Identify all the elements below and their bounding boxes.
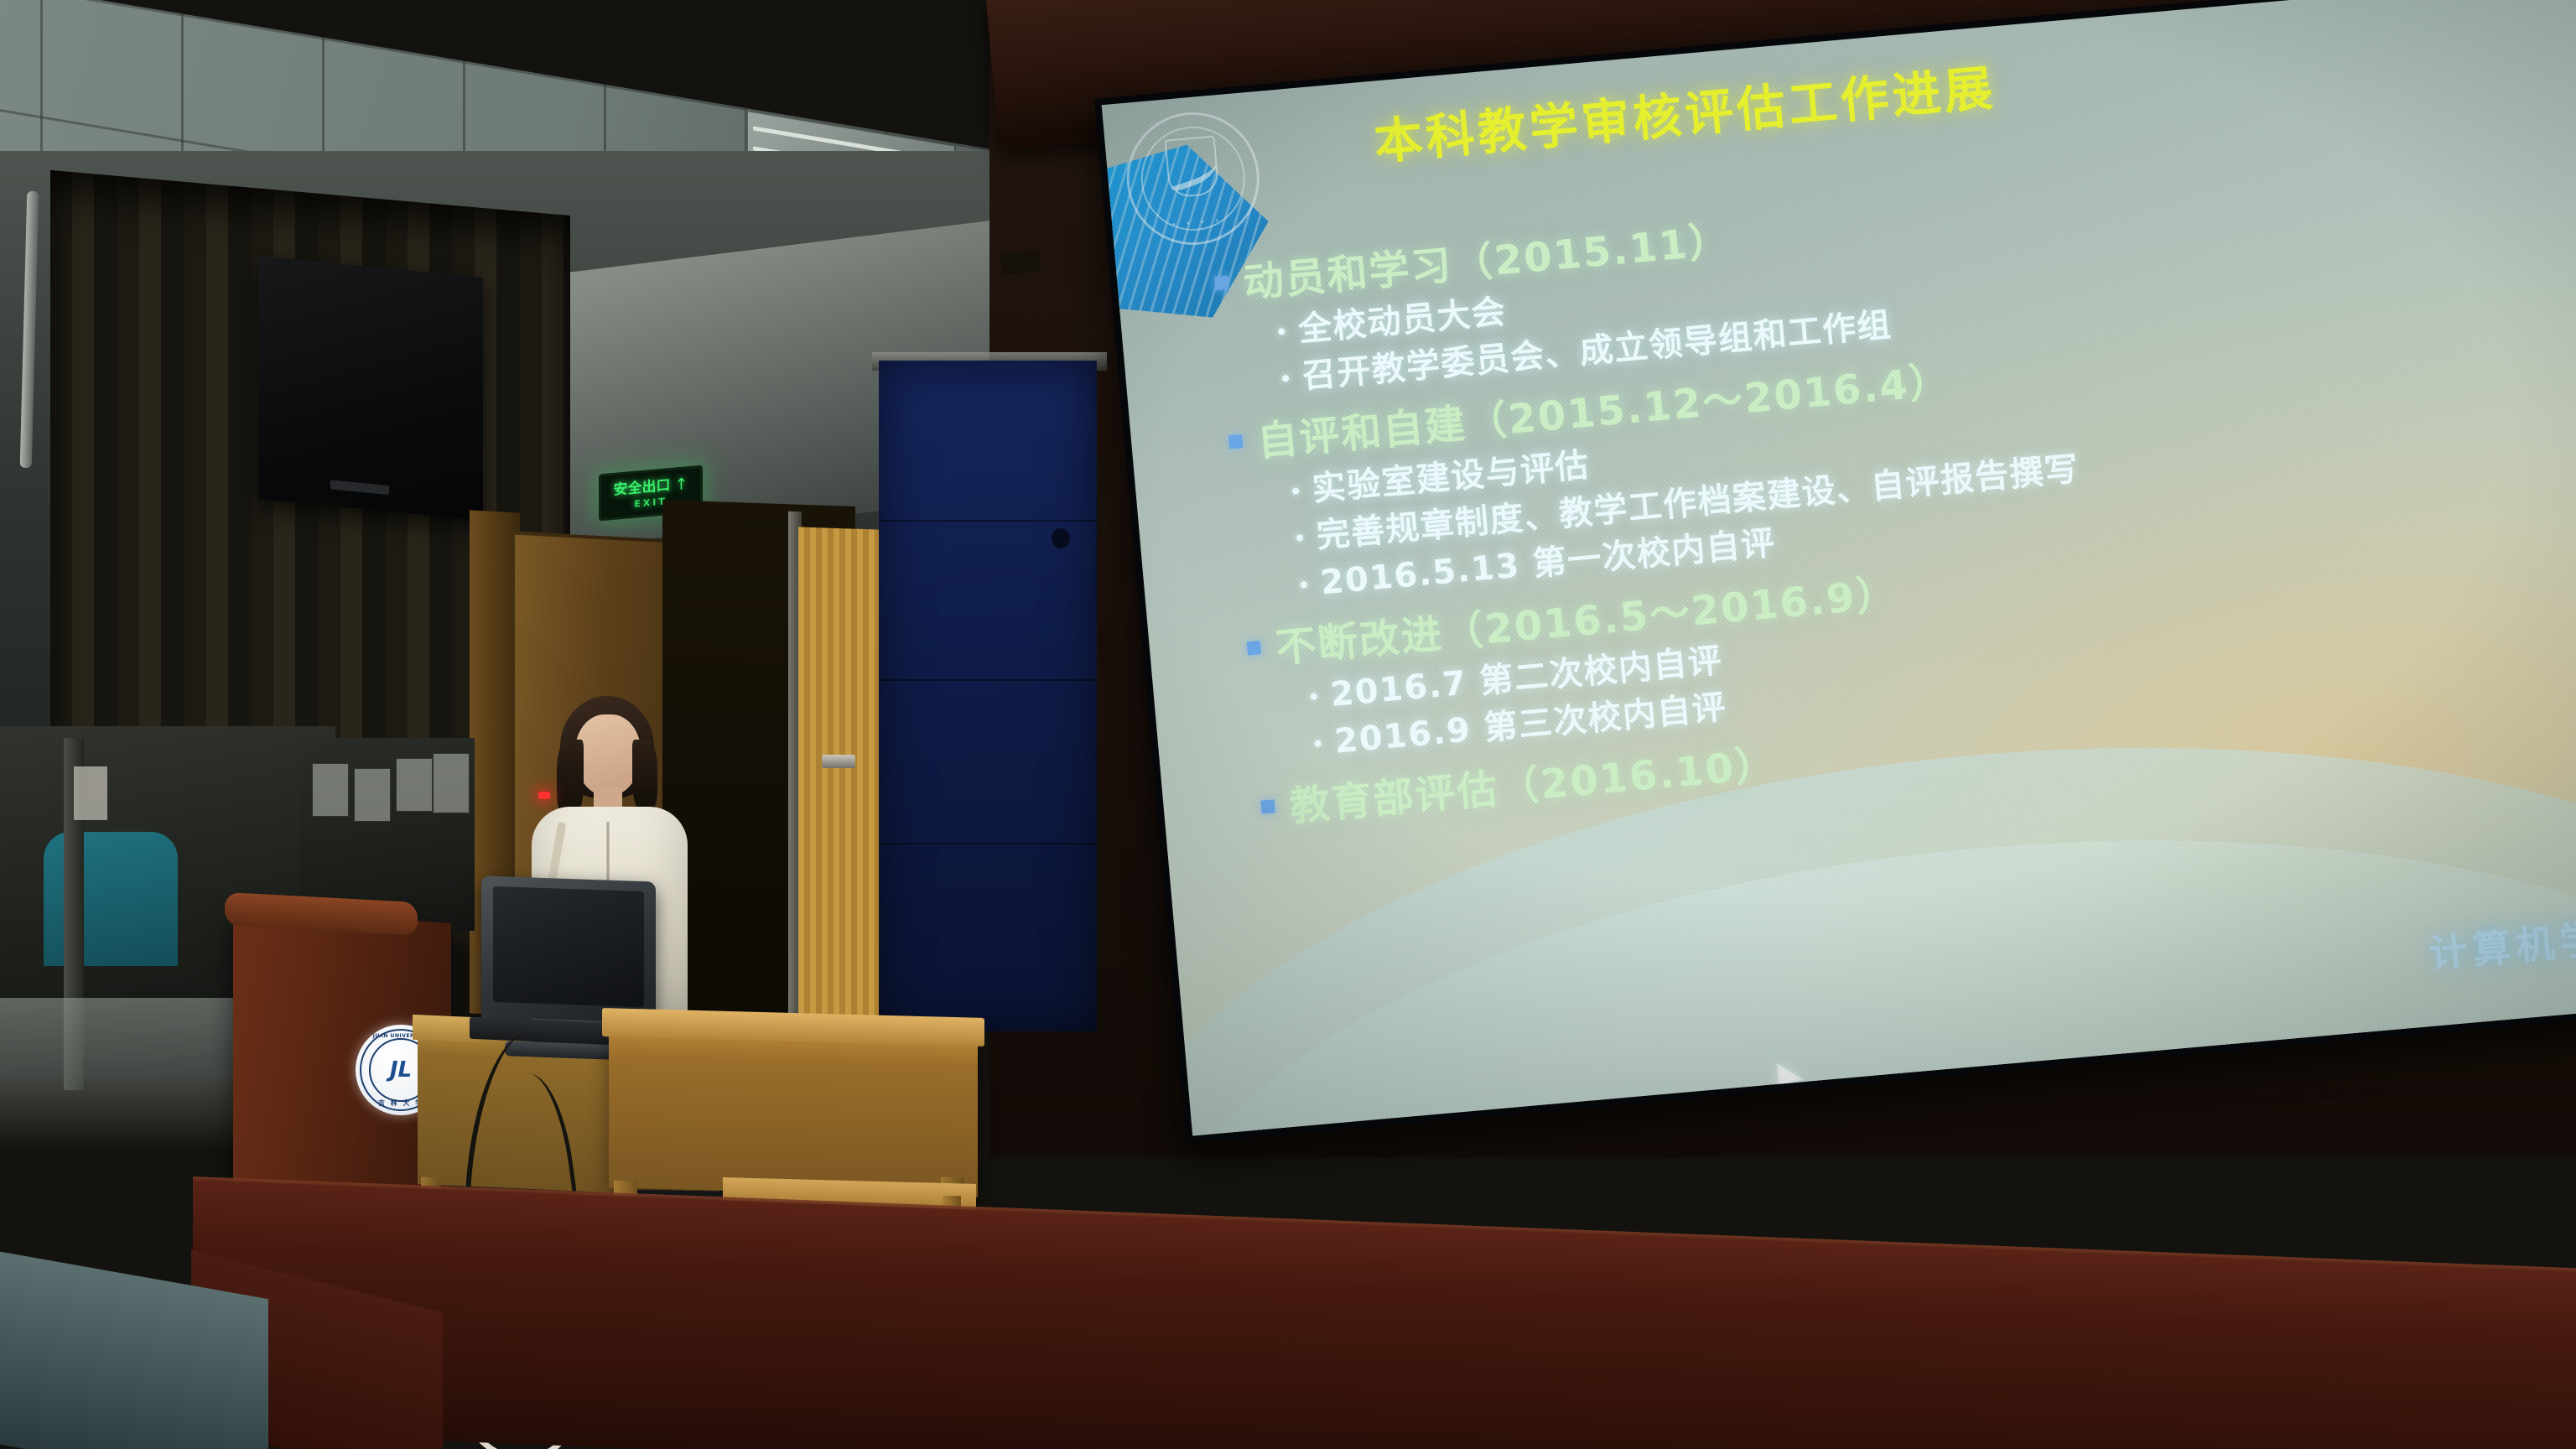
- projection-screen: • • • • 本科教学审核评估工作进展 动员和学习（2015.11） 全校动员…: [1094, 0, 2576, 1143]
- door-handle[interactable]: [822, 755, 855, 768]
- bullet-dot-icon: [1296, 534, 1304, 542]
- wall-speaker: [258, 256, 483, 521]
- panel-knob: [1052, 528, 1070, 548]
- bullet-dot-icon: [1282, 375, 1290, 382]
- presenter-face: [575, 714, 641, 797]
- lecture-hall-scene: 安全出口 ↑ EXIT: [0, 0, 2576, 1449]
- bullet-dot-icon: [1310, 693, 1317, 701]
- bullet-dot-icon: [1301, 581, 1308, 589]
- desk-right: [609, 1020, 978, 1197]
- wood-wall-panel: [798, 527, 879, 1049]
- notice-paper: [74, 766, 107, 820]
- bullet-square-icon: [1247, 641, 1261, 655]
- blue-acoustic-panel: [879, 361, 1097, 1031]
- bullet-dot-icon: [1292, 487, 1300, 495]
- monitor-screen: [493, 886, 644, 1007]
- screen-frame: • • • • 本科教学审核评估工作进展 动员和学习（2015.11） 全校动员…: [1094, 0, 2576, 1143]
- equipment-led-indicator: [538, 792, 550, 799]
- screen-bracket: [1000, 250, 1041, 275]
- bullet-dot-icon: [1278, 328, 1285, 335]
- bullet-square-icon: [1228, 434, 1243, 449]
- exit-sign-chinese-label: 安全出口: [614, 478, 671, 497]
- bullet-dot-icon: [1314, 740, 1322, 747]
- presentation-slide: • • • • 本科教学审核评估工作进展 动员和学习（2015.11） 全校动员…: [1102, 0, 2576, 1135]
- slide-title: 本科教学审核评估工作进展: [1371, 49, 1999, 174]
- stage-platform: [193, 1180, 2576, 1449]
- exit-arrow-icon: ↑: [675, 475, 688, 494]
- crt-monitor: [481, 875, 656, 1029]
- slide-bullet-list: 动员和学习（2015.11） 全校动员大会 召开教学委员会、成立领导组和工作组: [1213, 140, 2576, 849]
- bullet-square-icon: [1260, 800, 1275, 814]
- bullet-square-icon: [1214, 276, 1228, 290]
